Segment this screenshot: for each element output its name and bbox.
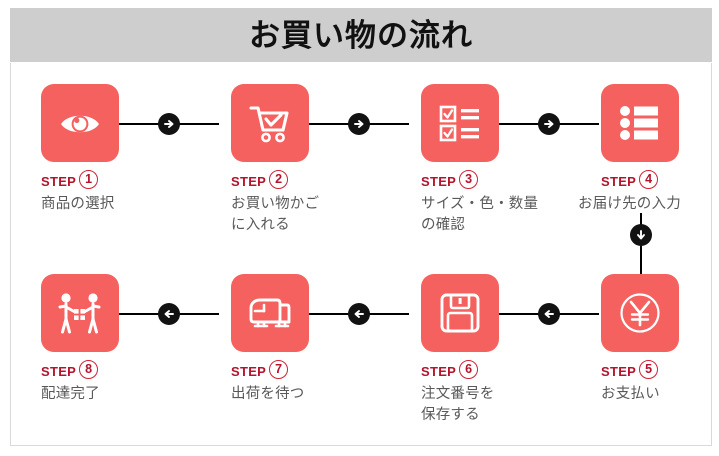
step-1-icon-tile[interactable] [41, 84, 119, 162]
package-handover-icon [56, 291, 104, 335]
step-8-label-row: STEP 8 [41, 361, 191, 381]
step-6-step-word: STEP [421, 365, 456, 378]
shopping-cart-check-icon [247, 100, 293, 146]
step-8-number-badge: 8 [79, 360, 98, 379]
step-card-8[interactable]: STEP 8 配達完了 [41, 274, 191, 405]
eye-icon [57, 100, 103, 146]
step-4-description: お届け先の入力 [578, 194, 719, 215]
step-4-label-row: STEP 4 [601, 171, 719, 191]
step-7-step-word: STEP [231, 365, 266, 378]
step-5-description: お支払い [601, 384, 719, 405]
step-card-6[interactable]: STEP 6 注文番号を 保存する [421, 274, 571, 425]
step-6-label-row: STEP 6 [421, 361, 571, 381]
step-2-description: お買い物かご に入れる [231, 194, 381, 235]
step-card-7[interactable]: STEP 7 出荷を待つ [231, 274, 381, 405]
step-4-number-badge: 4 [639, 170, 658, 189]
step-2-label-row: STEP 2 [231, 171, 381, 191]
step-5-icon-tile[interactable] [601, 274, 679, 352]
step-6-icon-tile[interactable] [421, 274, 499, 352]
step-7-number-badge: 7 [269, 360, 288, 379]
step-7-label-row: STEP 7 [231, 361, 381, 381]
checklist-icon [438, 101, 482, 145]
step-card-2[interactable]: STEP 2 お買い物かご に入れる [231, 84, 381, 235]
step-3-label-row: STEP 3 [421, 171, 571, 191]
floppy-disk-save-icon [438, 291, 482, 335]
step-1-number-badge: 1 [79, 170, 98, 189]
arrow-down-icon-4-5 [630, 224, 652, 246]
step-3-icon-tile[interactable] [421, 84, 499, 162]
step-2-step-word: STEP [231, 175, 266, 188]
step-2-icon-tile[interactable] [231, 84, 309, 162]
step-1-step-word: STEP [41, 175, 76, 188]
bulleted-list-icon [618, 101, 662, 145]
step-4-step-word: STEP [601, 175, 636, 188]
step-8-description: 配達完了 [41, 384, 191, 405]
yen-coin-icon [616, 289, 664, 337]
step-1-description: 商品の選択 [41, 194, 191, 215]
step-card-3[interactable]: STEP 3 サイズ・色・数量 の確認 [421, 84, 571, 235]
step-4-icon-tile[interactable] [601, 84, 679, 162]
page-title: お買い物の流れ [249, 20, 473, 51]
step-6-description: 注文番号を 保存する [421, 384, 571, 425]
step-2-number-badge: 2 [269, 170, 288, 189]
step-5-number-badge: 5 [639, 360, 658, 379]
step-5-label-row: STEP 5 [601, 361, 719, 381]
page-header: お買い物の流れ [10, 8, 712, 62]
step-7-icon-tile[interactable] [231, 274, 309, 352]
step-card-4[interactable]: STEP 4 お届け先の入力 [601, 84, 719, 215]
step-8-icon-tile[interactable] [41, 274, 119, 352]
step-5-step-word: STEP [601, 365, 636, 378]
delivery-truck-icon [247, 291, 293, 335]
step-7-description: 出荷を待つ [231, 384, 381, 405]
step-3-description: サイズ・色・数量 の確認 [421, 194, 571, 235]
step-8-step-word: STEP [41, 365, 76, 378]
step-1-label-row: STEP 1 [41, 171, 191, 191]
step-6-number-badge: 6 [459, 360, 478, 379]
step-card-1[interactable]: STEP 1 商品の選択 [41, 84, 191, 215]
shopping-flow-panel: STEP 1 商品の選択 STEP 2 お買い物かご に入れる [10, 63, 712, 446]
step-card-5[interactable]: STEP 5 お支払い [601, 274, 719, 405]
step-3-number-badge: 3 [459, 170, 478, 189]
step-3-step-word: STEP [421, 175, 456, 188]
